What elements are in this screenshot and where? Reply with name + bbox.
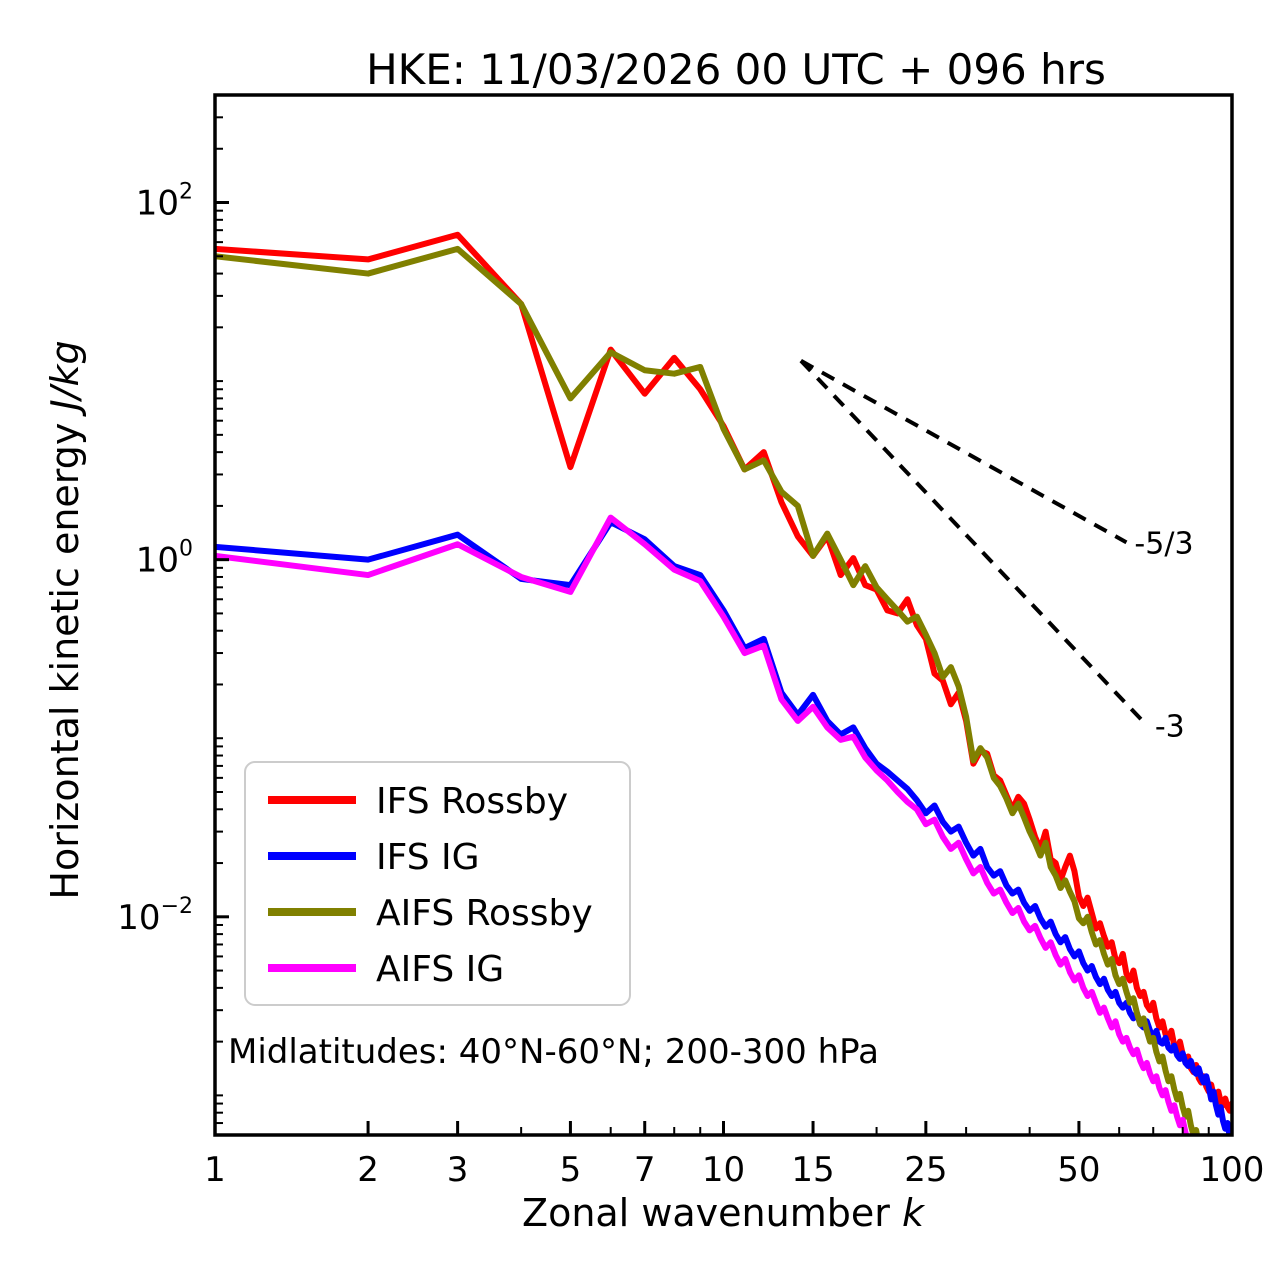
x-tick-label: 10: [702, 1150, 745, 1190]
chart-page: HKE: 11/03/2026 00 UTC + 096 hrs Horizon…: [0, 0, 1280, 1288]
legend-label-ifs-rossby: IFS Rossby: [376, 781, 568, 822]
reference-line-label-five-thirds: -5/3: [1134, 526, 1193, 561]
svg-text:Horizontal kinetic energy J/kg: Horizontal kinetic energy J/kg: [43, 340, 87, 899]
reference-line-label-three: -3: [1155, 709, 1185, 744]
legend-label-ifs-ig: IFS IG: [376, 837, 480, 878]
x-tick-label: 3: [447, 1150, 469, 1190]
y-axis-label: Horizontal kinetic energy J/kg: [43, 340, 87, 899]
legend-label-aifs-rossby: AIFS Rossby: [376, 893, 593, 934]
y-axis-label-plain: Horizontal kinetic energy: [43, 411, 87, 900]
x-tick-label: 5: [560, 1150, 582, 1190]
x-axis-label: Zonal wavenumber k: [522, 1191, 926, 1235]
x-tick-label: 1: [204, 1150, 226, 1190]
chart-title: HKE: 11/03/2026 00 UTC + 096 hrs: [366, 45, 1106, 94]
x-tick-label: 2: [357, 1150, 379, 1190]
legend: IFS RossbyIFS IGAIFS RossbyAIFS IG: [245, 762, 630, 1005]
x-axis-label-plain: Zonal wavenumber: [522, 1191, 902, 1235]
legend-label-aifs-ig: AIFS IG: [376, 949, 504, 990]
svg-text:Zonal wavenumber k: Zonal wavenumber k: [522, 1191, 926, 1235]
x-tick-label: 100: [1200, 1150, 1265, 1190]
x-axis-label-symbol: k: [902, 1191, 926, 1235]
x-tick-label: 50: [1057, 1150, 1100, 1190]
x-tick-label: 7: [634, 1150, 656, 1190]
x-tick-label: 15: [791, 1150, 834, 1190]
y-axis-label-units: J/kg: [43, 340, 87, 417]
x-tick-label: 25: [904, 1150, 947, 1190]
hke-spectrum-figure: HKE: 11/03/2026 00 UTC + 096 hrs Horizon…: [0, 0, 1280, 1288]
region-annotation: Midlatitudes: 40°N-60°N; 200-300 hPa: [228, 1032, 879, 1072]
